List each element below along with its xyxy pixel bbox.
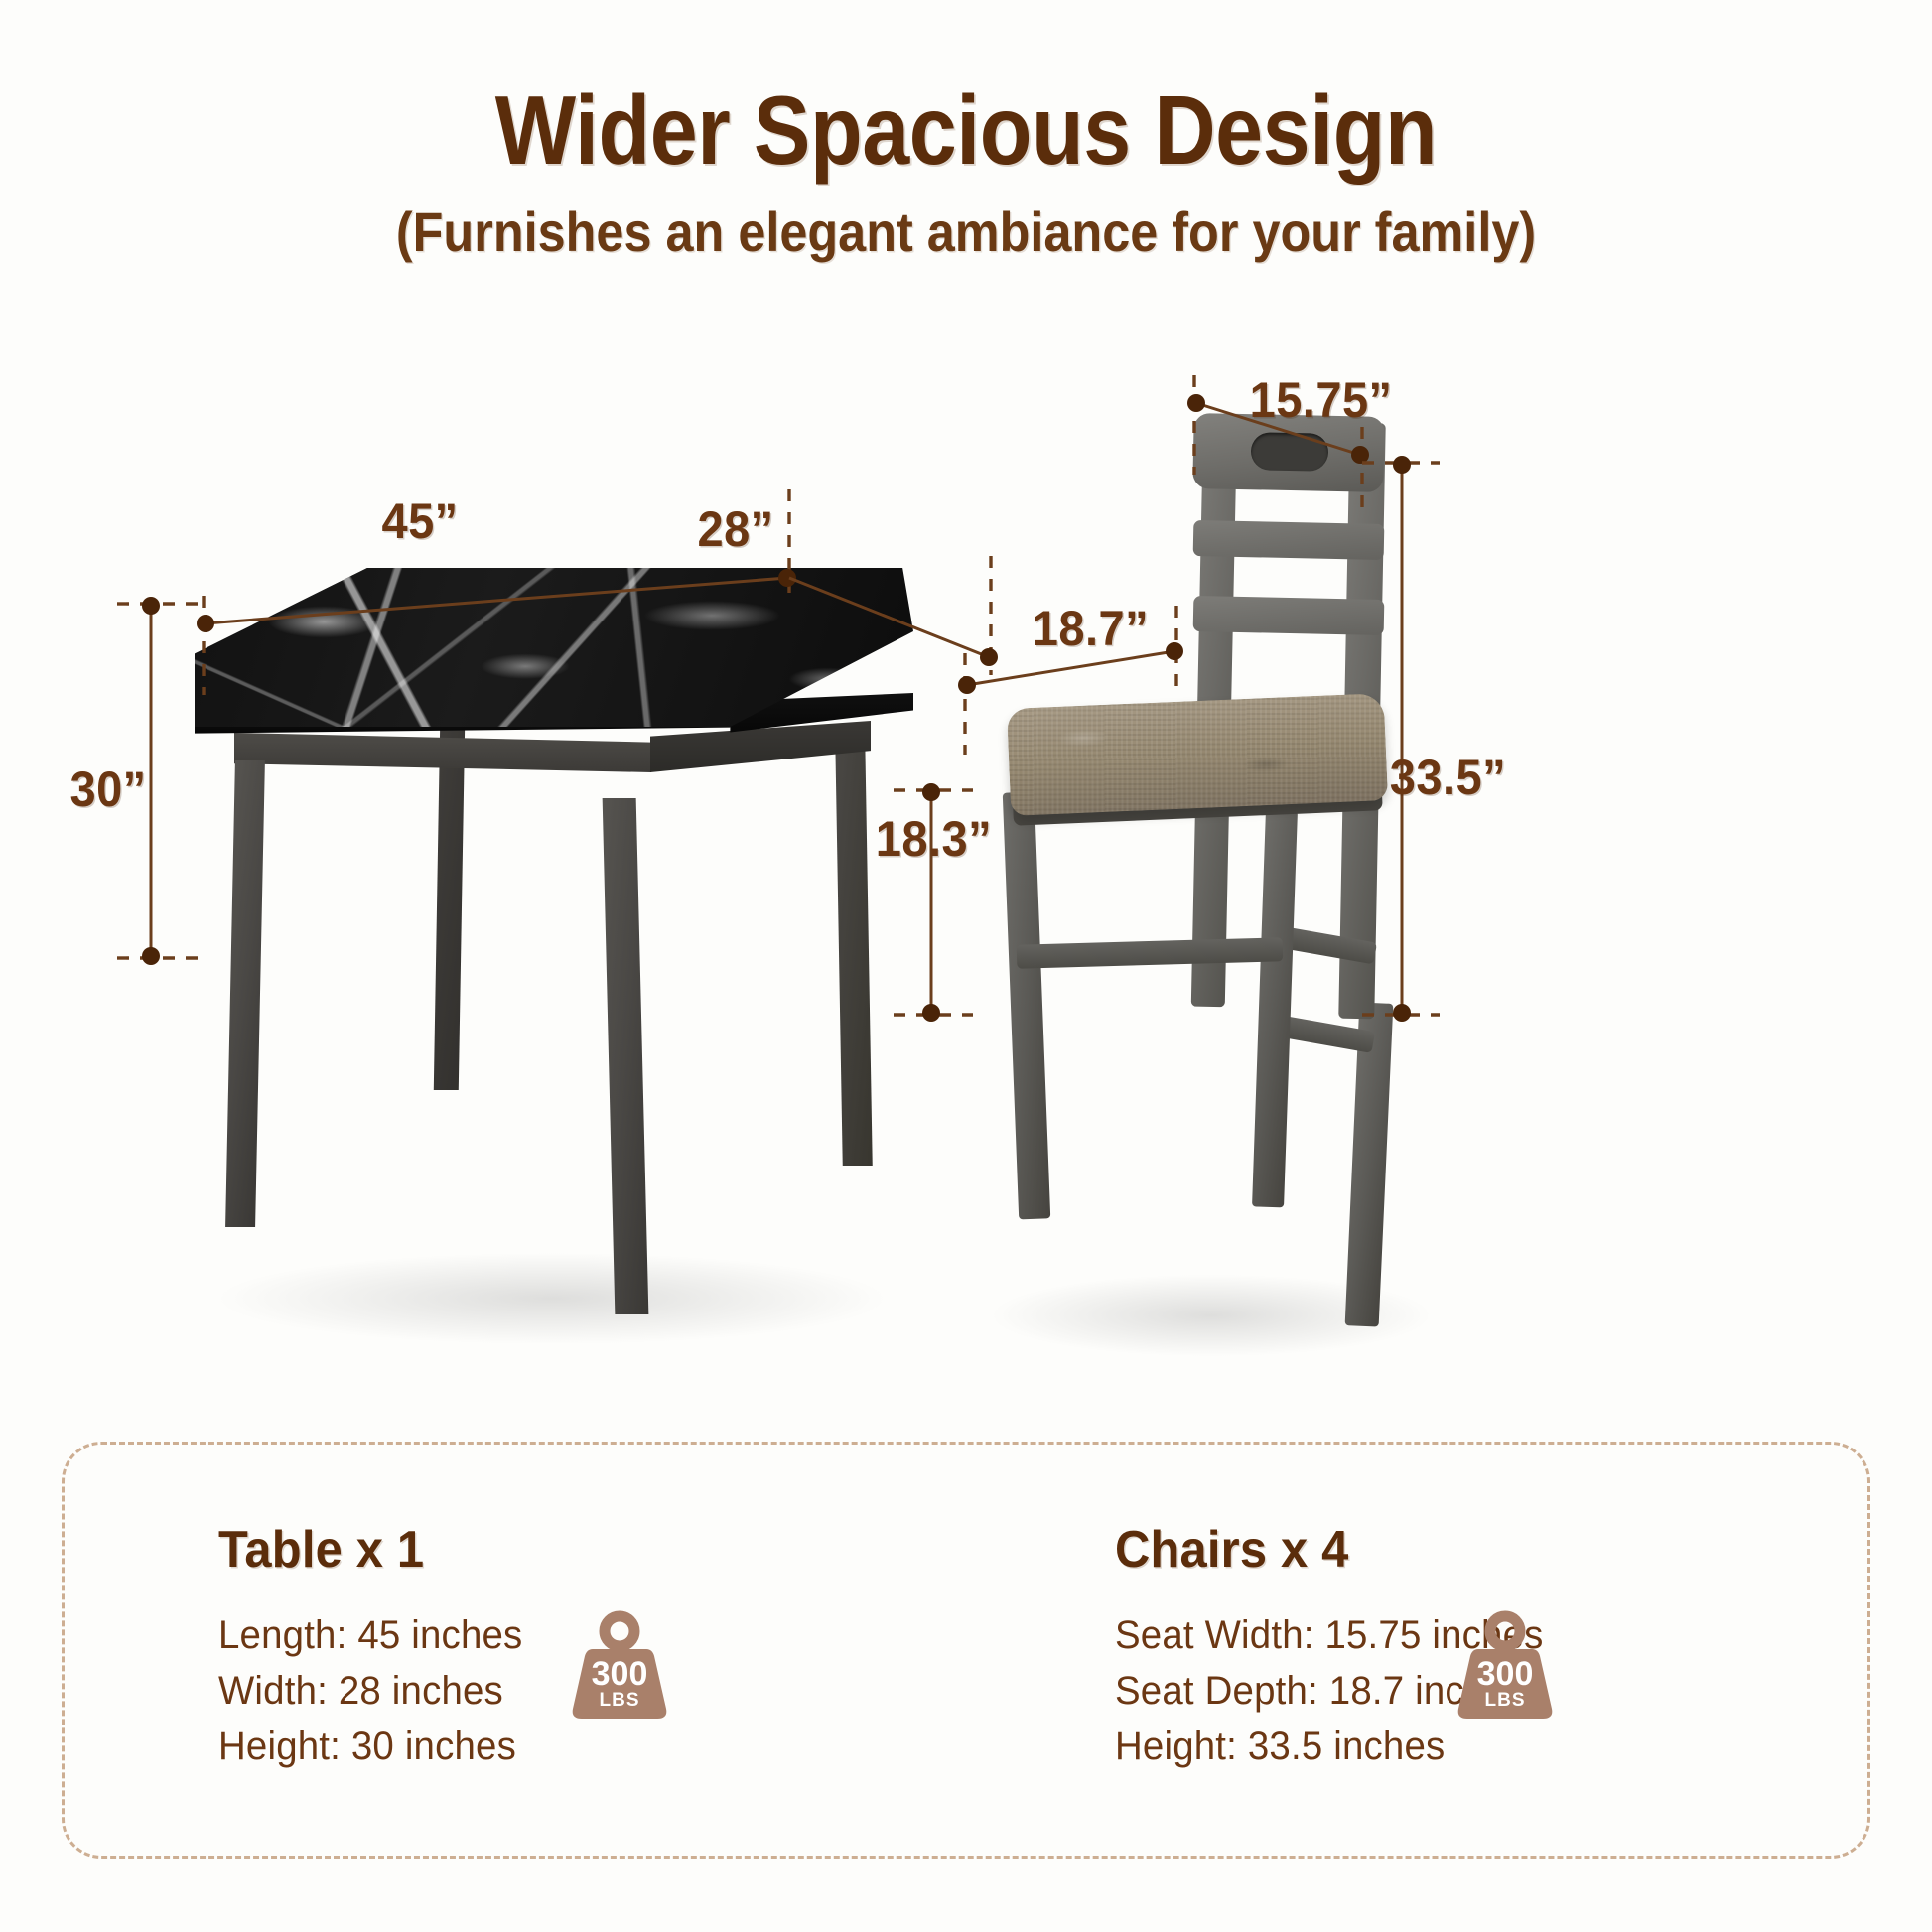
table-illustration bbox=[109, 328, 983, 1400]
infographic-root: Wider Spacious Design (Furnishes an eleg… bbox=[0, 0, 1932, 1932]
spec-line-table-width: Width: 28 inches bbox=[218, 1669, 522, 1714]
table-apron-front bbox=[234, 733, 651, 772]
table-leg-back-right bbox=[835, 739, 873, 1166]
spec-heading-table: Table x 1 bbox=[218, 1520, 516, 1580]
table-leg-back-left bbox=[434, 725, 465, 1090]
dimension-label-table-height: 30” bbox=[69, 764, 146, 814]
dimension-label-chair-seat-width: 15.75” bbox=[1250, 375, 1393, 425]
page-title: Wider Spacious Design bbox=[116, 0, 1816, 179]
weight-capacity-badge-chairs: 300 LBS bbox=[1447, 1609, 1564, 1726]
spec-panel: Table x 1 Length: 45 inches Width: 28 in… bbox=[62, 1442, 1870, 1859]
spec-column-chairs: Chairs x 4 Seat Width: 15.75 inches Seat… bbox=[966, 1445, 1867, 1856]
dimension-label-chair-seat-depth: 18.7” bbox=[1033, 604, 1149, 653]
dimension-label-chair-total-height: 33.5” bbox=[1390, 753, 1506, 802]
chair-back-slat-lower bbox=[1193, 596, 1385, 635]
dimension-label-chair-seat-height: 18.3” bbox=[876, 814, 992, 864]
dimension-label-table-width: 28” bbox=[697, 504, 773, 554]
weight-badge-number: 300 bbox=[561, 1657, 678, 1691]
spec-line-table-height: Height: 30 inches bbox=[218, 1725, 522, 1769]
chair-handle-cutout-icon bbox=[1251, 432, 1329, 472]
chair-back-slat-upper bbox=[1193, 520, 1385, 560]
page-subtitle: (Furnishes an elegant ambiance for your … bbox=[96, 179, 1835, 260]
weight-badge-unit: LBS bbox=[1447, 1691, 1564, 1710]
weight-badge-unit: LBS bbox=[561, 1691, 678, 1710]
chair-leg-front-right bbox=[1252, 810, 1298, 1208]
table-leg-front-left bbox=[225, 760, 265, 1227]
weight-badge-number: 300 bbox=[1447, 1657, 1564, 1691]
dimension-label-table-length: 45” bbox=[381, 496, 458, 546]
chair-leg-front-left bbox=[1003, 792, 1050, 1220]
spec-column-table: Table x 1 Length: 45 inches Width: 28 in… bbox=[65, 1445, 966, 1856]
spec-line-chair-height: Height: 33.5 inches bbox=[1115, 1725, 1544, 1769]
table-leg-front-right bbox=[603, 798, 649, 1314]
header: Wider Spacious Design (Furnishes an eleg… bbox=[0, 0, 1932, 260]
weight-capacity-badge-table: 300 LBS bbox=[561, 1609, 678, 1726]
chair-seat-cushion bbox=[1007, 693, 1388, 816]
chair-stretcher-front bbox=[1017, 937, 1284, 968]
spec-heading-chairs: Chairs x 4 bbox=[1115, 1520, 1535, 1580]
table-floor-shadow bbox=[205, 1251, 899, 1346]
chair-illustration bbox=[943, 328, 1817, 1400]
spec-line-table-length: Length: 45 inches bbox=[218, 1613, 522, 1658]
